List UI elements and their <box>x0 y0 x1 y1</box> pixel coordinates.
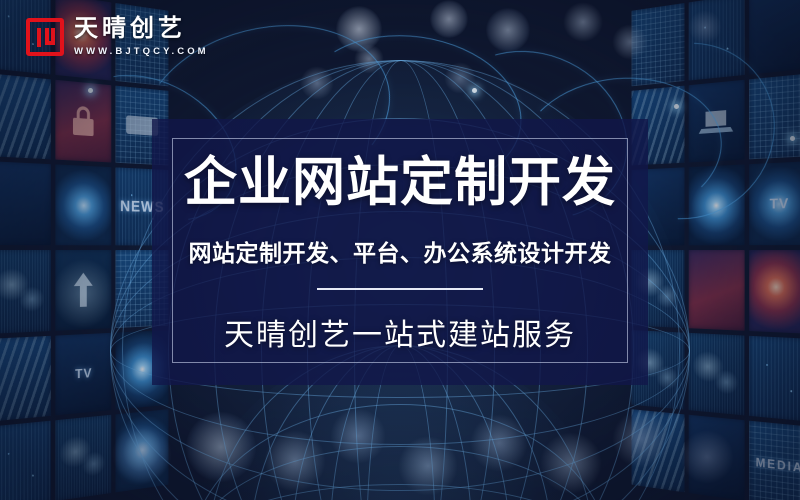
brand-name: 天晴创艺 <box>74 17 209 41</box>
tq-square-logo-icon <box>26 18 64 56</box>
page-subtitle: 网站定制开发、平台、办公系统设计开发 <box>189 234 612 268</box>
headline-panel: 企业网站定制开发 网站定制开发、平台、办公系统设计开发 天晴创艺一站式建站服务 <box>152 119 648 385</box>
divider-rule <box>317 288 483 290</box>
brand-website: WWW.BJTQCY.COM <box>74 47 209 57</box>
page-tagline: 天晴创艺一站式建站服务 <box>224 310 576 354</box>
page-title: 企业网站定制开发 <box>184 157 616 210</box>
banner-canvas: NEWS TV <box>0 0 800 500</box>
brand-logo[interactable]: 天晴创艺 WWW.BJTQCY.COM <box>26 17 209 57</box>
